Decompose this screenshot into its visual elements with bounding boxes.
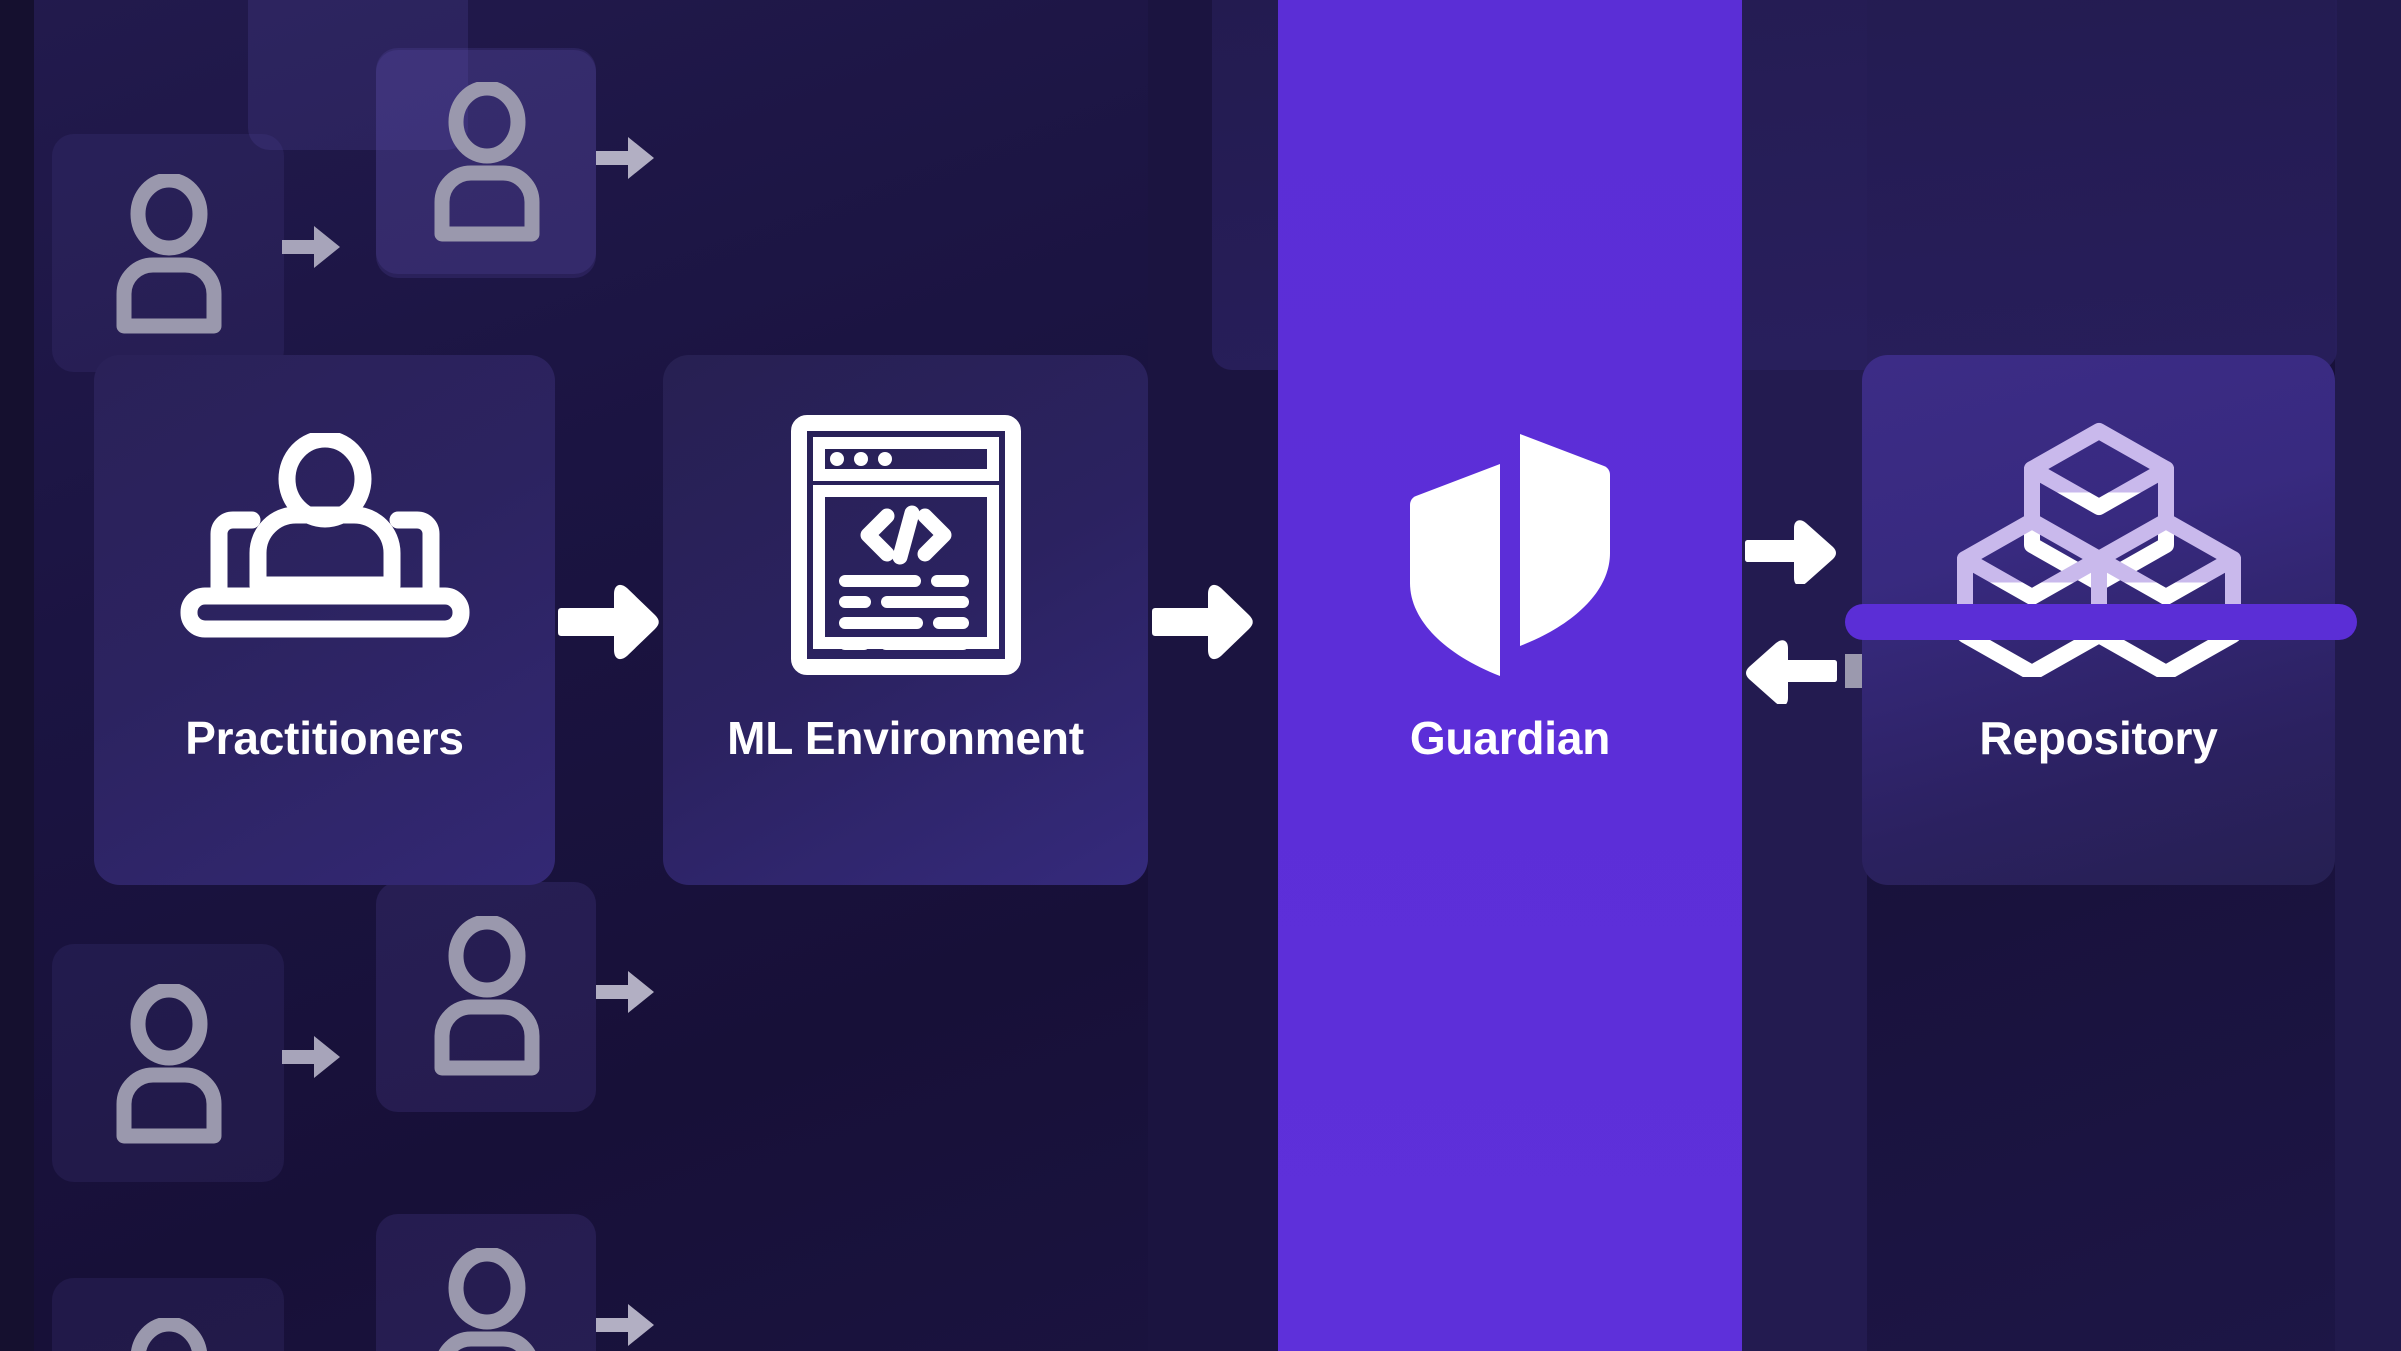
arrow-ml-to-guardian xyxy=(1152,582,1254,662)
user-icon xyxy=(428,82,546,242)
ghost-arrow-right-icon xyxy=(596,133,656,183)
background-dark-column-far-right xyxy=(2335,0,2401,1351)
arrow-repository-to-guardian xyxy=(1745,638,1837,704)
background-dark-column-left xyxy=(0,0,34,1351)
ghost-arrow-right-icon xyxy=(596,1300,656,1350)
node-ml-environment[interactable]: ML Environment xyxy=(663,355,1148,885)
user-icon xyxy=(110,174,228,334)
split-shield-icon xyxy=(1400,420,1620,680)
user-icon xyxy=(428,916,546,1076)
code-window-icon xyxy=(791,415,1021,675)
arrow-guardian-to-repository xyxy=(1745,518,1837,584)
repository-scan-bar xyxy=(1845,604,2357,640)
node-label-repository: Repository xyxy=(1862,715,2335,761)
node-label-guardian: Guardian xyxy=(1278,715,1742,761)
node-practitioners[interactable]: Practitioners xyxy=(94,355,555,885)
ghost-arrow-right-icon xyxy=(282,222,342,272)
ghost-arrow-right-icon xyxy=(596,967,656,1017)
diagram-canvas: Practitioners xyxy=(0,0,2401,1351)
node-label-ml-environment: ML Environment xyxy=(663,715,1148,761)
node-guardian[interactable]: Guardian xyxy=(1278,355,1742,885)
user-icon xyxy=(110,1318,228,1351)
arrow-practitioners-to-ml xyxy=(558,582,660,662)
user-icon xyxy=(110,984,228,1144)
ghost-arrow-right-icon xyxy=(282,1032,342,1082)
user-icon xyxy=(428,1248,546,1351)
user-laptop-icon xyxy=(180,433,470,643)
node-label-practitioners: Practitioners xyxy=(94,715,555,761)
